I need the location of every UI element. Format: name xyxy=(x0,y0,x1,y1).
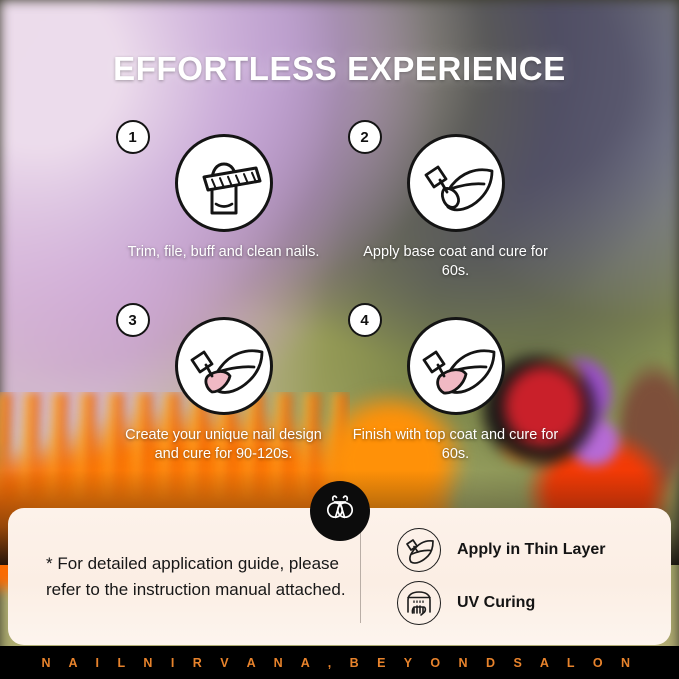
brand-footer: N A I L N I R V A N A , B E Y O N D S A … xyxy=(0,646,679,679)
step-caption-3: Create your unique nail design and cure … xyxy=(119,426,329,464)
step-caption-2: Apply base coat and cure for 60s. xyxy=(351,243,561,281)
step-number-badge-1: 1 xyxy=(116,120,150,154)
features-list: Apply in Thin Layer xyxy=(361,519,671,634)
step-item-3: 3 Create your unique nail design and cur… xyxy=(108,303,340,464)
manual-note-text: For detailed application guide, please r… xyxy=(46,554,346,599)
feature-label-thin-layer: Apply in Thin Layer xyxy=(457,541,605,559)
step-number-badge-2: 2 xyxy=(348,120,382,154)
step-caption-1: Trim, file, buff and clean nails. xyxy=(119,243,329,262)
feature-item-uv-curing: UV Curing xyxy=(397,581,671,625)
asterisk-marker: * xyxy=(46,554,53,573)
step-item-2: 2 Apply base coat and cure for 60s. xyxy=(340,120,572,281)
step-number-badge-3: 3 xyxy=(116,303,150,337)
feature-item-thin-layer: Apply in Thin Layer xyxy=(397,528,671,572)
nail-file-icon xyxy=(175,134,273,232)
uv-lamp-icon xyxy=(397,581,441,625)
brand-logo-badge xyxy=(310,481,370,541)
step-number-badge-4: 4 xyxy=(348,303,382,337)
steps-grid: 1 xyxy=(0,120,679,465)
base-coat-brush-icon xyxy=(407,134,505,232)
steps-row-bottom: 3 Create your unique nail design and cur… xyxy=(0,303,679,464)
thin-layer-brush-icon xyxy=(397,528,441,572)
nail-design-brush-icon xyxy=(175,317,273,415)
promo-infographic: EFFORTLESS EXPERIENCE 1 xyxy=(0,0,679,679)
butterfly-monogram-icon xyxy=(323,492,357,531)
step-item-1: 1 xyxy=(108,120,340,281)
page-title: EFFORTLESS EXPERIENCE xyxy=(0,50,679,88)
manual-note: * For detailed application guide, please… xyxy=(8,551,360,602)
steps-row-top: 1 xyxy=(0,120,679,281)
top-coat-brush-icon xyxy=(407,317,505,415)
brand-footer-text: N A I L N I R V A N A , B E Y O N D S A … xyxy=(41,656,637,670)
step-item-4: 4 Finish with top coat and cure for 60s. xyxy=(340,303,572,464)
feature-label-uv-curing: UV Curing xyxy=(457,594,535,612)
step-caption-4: Finish with top coat and cure for 60s. xyxy=(351,426,561,464)
